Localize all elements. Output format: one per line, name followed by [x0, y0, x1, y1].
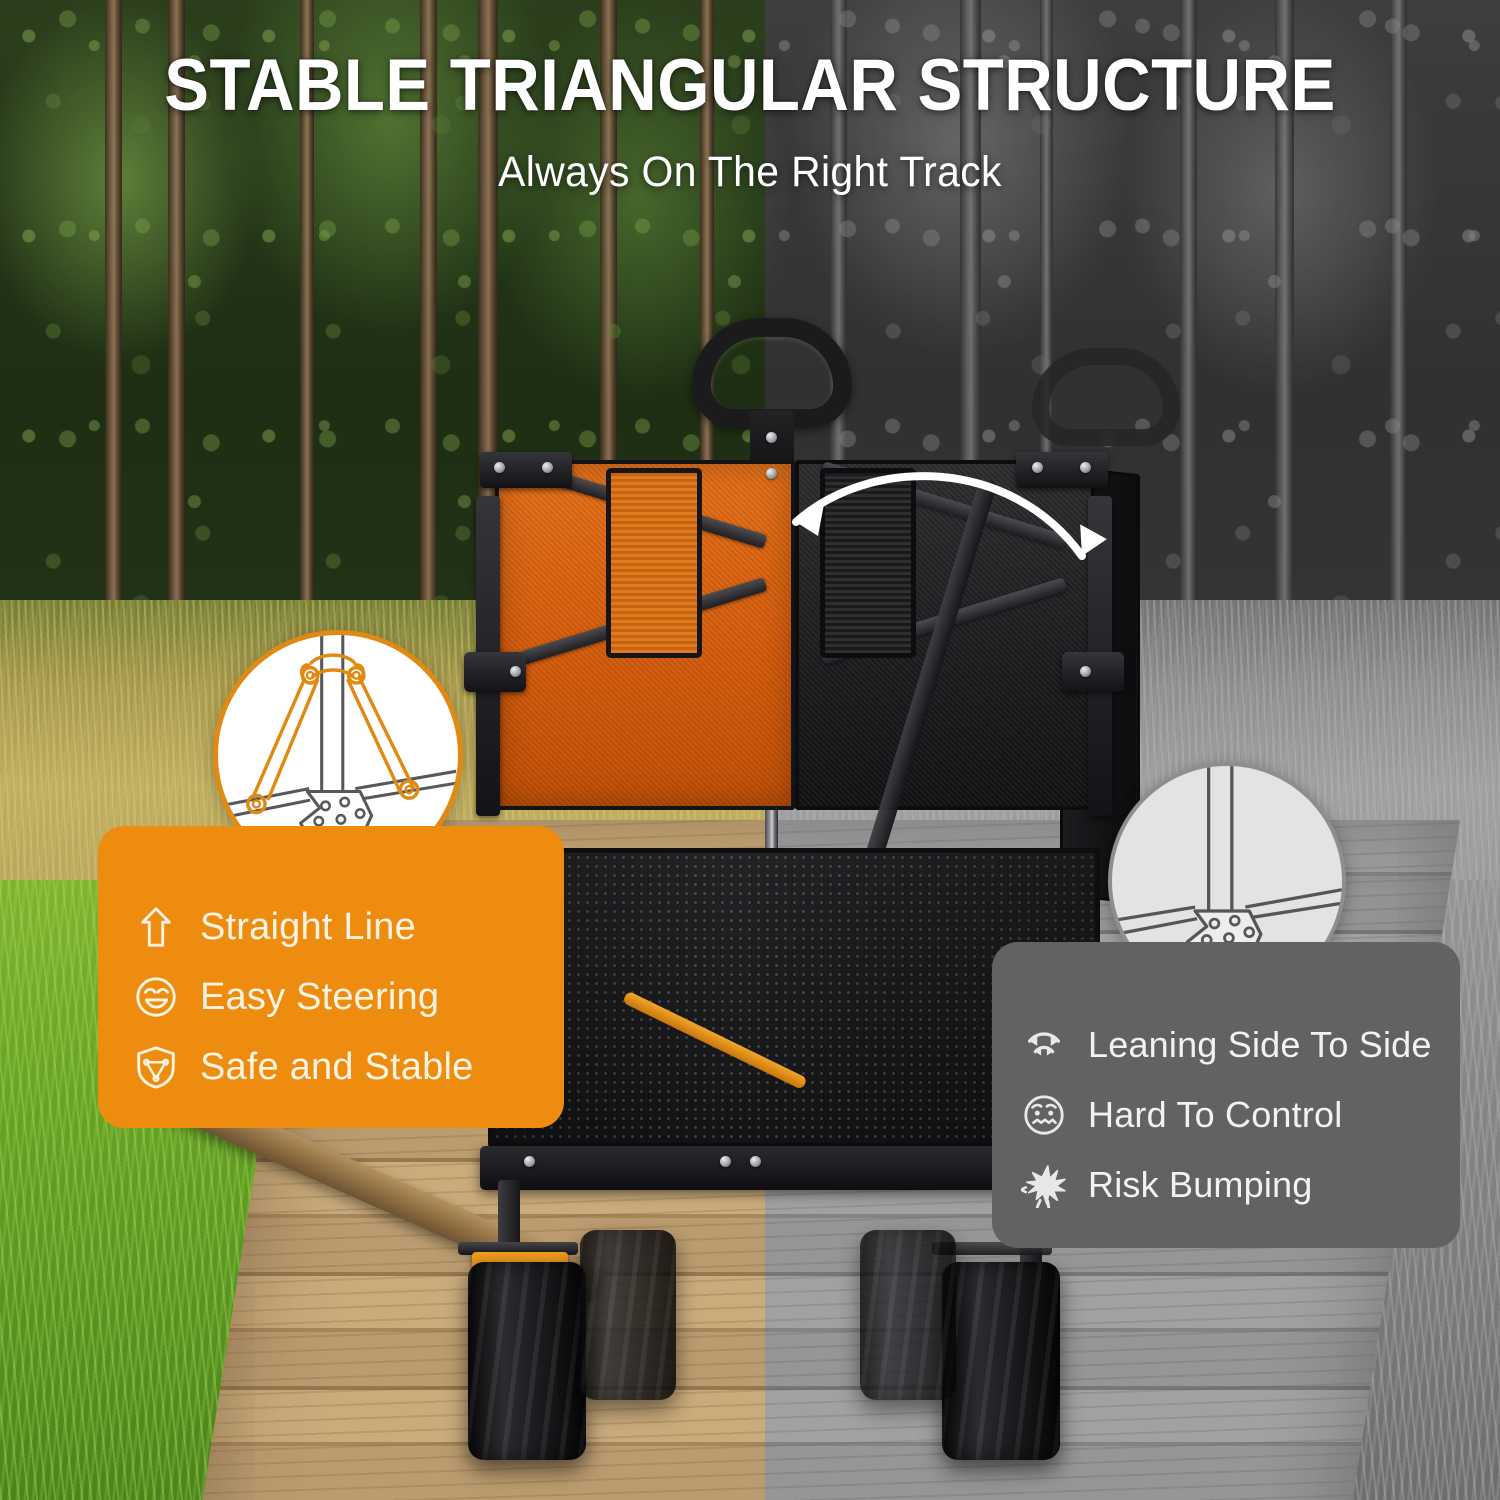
benefits-panel: Straight Line Easy Steering: [98, 826, 564, 1128]
benefit-row-easy-steering: Easy Steering: [132, 973, 564, 1021]
drawback-row-risk-bumping: Risk Bumping: [1020, 1161, 1460, 1209]
drawback-label: Hard To Control: [1088, 1094, 1342, 1136]
worried-face-icon: [1020, 1091, 1068, 1139]
impact-burst-icon: [1020, 1161, 1068, 1209]
wheel-front-left: [468, 1262, 586, 1460]
page-subtitle: Always On The Right Track: [38, 148, 1463, 197]
wheel-rear-left: [580, 1230, 676, 1400]
drawbacks-panel: Leaning Side To Side Hard To Control: [992, 942, 1460, 1248]
page-title: STABLE TRIANGULAR STRUCTURE: [60, 44, 1440, 127]
wheel-front-right: [942, 1262, 1060, 1460]
benefit-label: Easy Steering: [200, 976, 439, 1019]
double-arrow-sway-icon: [1020, 1021, 1068, 1069]
benefit-row-safe-stable: Safe and Stable: [132, 1043, 564, 1091]
drawback-row-leaning: Leaning Side To Side: [1020, 1021, 1460, 1069]
sway-arc-arrow-icon: [760, 460, 1120, 660]
drawback-row-hard-control: Hard To Control: [1020, 1091, 1460, 1139]
benefit-label: Safe and Stable: [200, 1046, 473, 1089]
smiley-face-icon: [132, 973, 180, 1021]
benefit-label: Straight Line: [200, 906, 416, 949]
benefit-row-straight-line: Straight Line: [132, 903, 564, 951]
drawback-label: Risk Bumping: [1088, 1164, 1312, 1206]
drawback-label: Leaning Side To Side: [1088, 1024, 1432, 1066]
up-arrow-icon: [132, 903, 180, 951]
wheel-rear-right: [860, 1230, 956, 1400]
shield-triangle-icon: [132, 1043, 180, 1091]
product-feature-graphic: STABLE TRIANGULAR STRUCTURE Always On Th…: [0, 0, 1500, 1500]
handle-grip-ghost: [1032, 348, 1180, 446]
side-pocket-orange: [606, 468, 702, 658]
